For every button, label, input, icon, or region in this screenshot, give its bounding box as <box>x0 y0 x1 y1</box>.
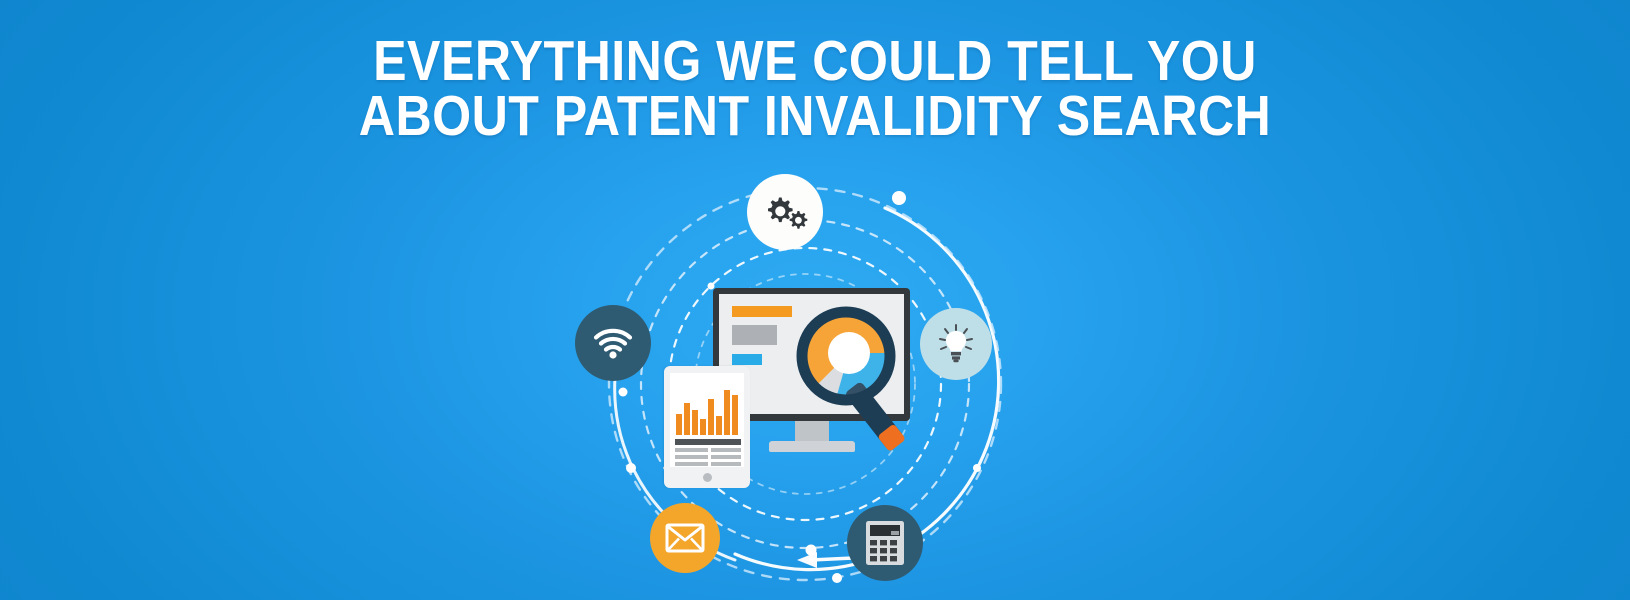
bar <box>684 403 690 435</box>
calculator-icon <box>865 520 905 566</box>
page-title: EVERYTHING WE COULD TELL YOU ABOUT PATEN… <box>0 34 1630 144</box>
screen-widget-orange-bar <box>732 306 792 317</box>
calculator-icon-bubble[interactable] <box>847 505 923 581</box>
wifi-icon-bubble[interactable] <box>575 305 651 381</box>
bar <box>676 414 682 435</box>
screen-widget-gray-block <box>732 325 777 345</box>
envelope-icon-bubble[interactable] <box>650 503 720 573</box>
title-line-1: EVERYTHING WE COULD TELL YOU <box>98 34 1532 89</box>
bar <box>708 399 714 435</box>
envelope-icon <box>665 523 705 553</box>
tablet-home-button <box>703 473 712 482</box>
gears-icon <box>761 192 809 232</box>
tablet-bar-chart <box>676 387 740 435</box>
gears-icon-bubble[interactable] <box>747 174 823 250</box>
magnifying-glass <box>790 302 930 467</box>
lightbulb-icon-bubble[interactable] <box>920 308 992 380</box>
lightbulb-icon <box>934 322 978 366</box>
title-line-2: ABOUT PATENT INVALIDITY SEARCH <box>98 89 1532 144</box>
banner: EVERYTHING WE COULD TELL YOU ABOUT PATEN… <box>0 0 1630 600</box>
screen-widget-blue-bar <box>732 354 762 365</box>
tablet-screen <box>670 373 744 467</box>
tablet-table-header <box>675 439 741 445</box>
bar <box>716 416 722 435</box>
tablet-table-divider <box>708 447 711 467</box>
wifi-icon <box>593 327 633 359</box>
tablet-device <box>664 366 750 488</box>
bar <box>724 390 730 435</box>
magnifier-lens <box>802 312 890 400</box>
bar <box>700 419 706 435</box>
bar <box>732 395 738 435</box>
bar <box>692 410 698 435</box>
